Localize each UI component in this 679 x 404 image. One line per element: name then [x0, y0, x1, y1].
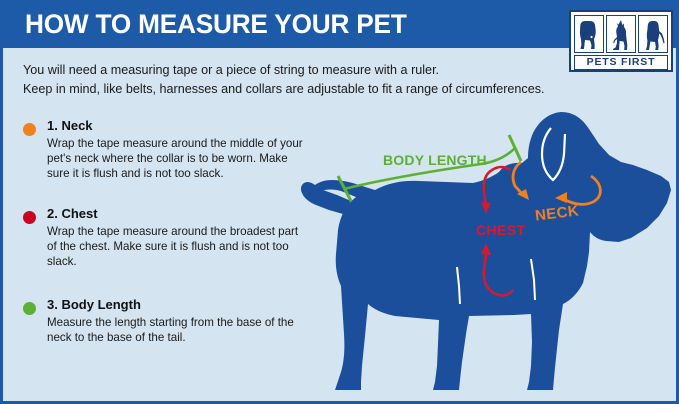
intro-text: You will need a measuring tape or a piec… — [23, 61, 623, 99]
dog-diagram-svg — [299, 104, 679, 394]
step-description-neck: Wrap the tape measure around the middle … — [47, 136, 309, 182]
step-description-chest: Wrap the tape measure around the broades… — [47, 224, 309, 270]
page-title: HOW TO MEASURE YOUR PET — [25, 9, 407, 40]
dog-sitting-silhouette-icon — [574, 15, 604, 53]
logo-frames — [574, 15, 668, 53]
step-description-body-length: Measure the length starting from the bas… — [47, 315, 309, 345]
intro-line-2: Keep in mind, like belts, harnesses and … — [23, 80, 623, 99]
dog-standing-silhouette-icon — [638, 15, 668, 53]
step-item-body-length: 3. Body Length Measure the length starti… — [21, 297, 309, 345]
measurement-steps-list: 1. Neck Wrap the tape measure around the… — [21, 118, 309, 366]
bullet-icon-chest — [23, 211, 36, 224]
bullet-icon-body-length — [23, 302, 36, 315]
dog-begging-silhouette-icon — [606, 15, 636, 53]
dog-measurement-diagram: BODY LENGTH NECK CHEST — [299, 104, 679, 394]
label-body-length: BODY LENGTH — [383, 152, 487, 168]
step-title-body-length: 3. Body Length — [47, 297, 309, 313]
intro-line-1: You will need a measuring tape or a piec… — [23, 61, 623, 80]
infographic-poster: HOW TO MEASURE YOUR PET — [0, 0, 679, 404]
step-item-neck: 1. Neck Wrap the tape measure around the… — [21, 118, 309, 182]
step-title-chest: 2. Chest — [47, 206, 309, 222]
label-chest: CHEST — [476, 222, 525, 238]
step-item-chest: 2. Chest Wrap the tape measure around th… — [21, 206, 309, 270]
bullet-icon-neck — [23, 123, 36, 136]
step-title-neck: 1. Neck — [47, 118, 309, 134]
